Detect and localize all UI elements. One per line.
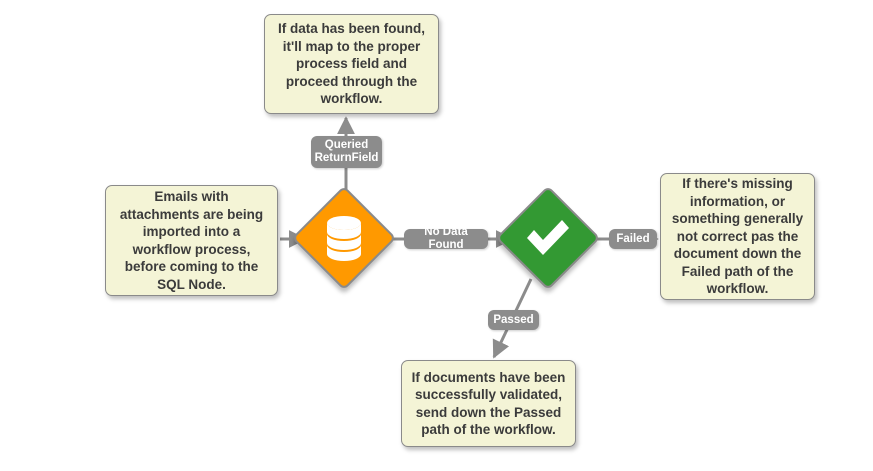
edge-label-no-data-found[interactable]: No Data Found <box>404 229 488 249</box>
workflow-diagram-canvas: If data has been found, it'll map to the… <box>0 0 873 471</box>
note-queried-returnfield[interactable]: If data has been found, it'll map to the… <box>264 14 439 114</box>
node-validate-check[interactable] <box>496 186 600 290</box>
note-passed-path[interactable]: If documents have been successfully vali… <box>401 360 576 447</box>
edge-label-queried-returnfield[interactable]: Queried ReturnField <box>311 136 382 168</box>
node-validate-shape <box>496 186 601 291</box>
edge-label-passed[interactable]: Passed <box>488 310 539 330</box>
node-sql-shape <box>292 186 397 291</box>
note-failed-path[interactable]: If there's missing information, or somet… <box>660 173 815 300</box>
note-email-import[interactable]: Emails with attachments are being import… <box>105 185 278 296</box>
node-sql-database[interactable] <box>292 186 396 290</box>
edge-label-failed[interactable]: Failed <box>609 229 657 249</box>
